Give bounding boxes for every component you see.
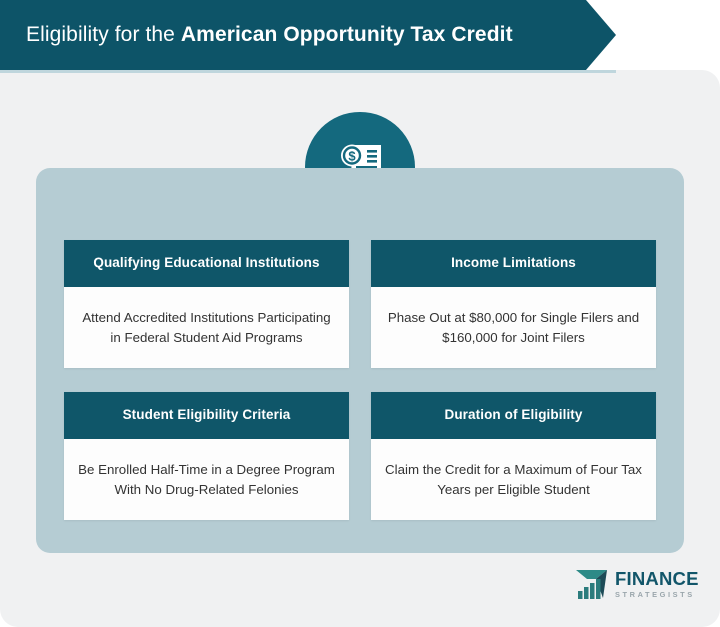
card-header: Qualifying Educational Institutions	[64, 240, 349, 287]
header-banner: Eligibility for the American Opportunity…	[0, 0, 616, 70]
logo-name: FINANCE	[615, 570, 699, 589]
brand-logo: FINANCE STRATEGISTS	[573, 563, 705, 605]
logo-tagline: STRATEGISTS	[615, 591, 699, 598]
bar-chart-arrow-logo-mark	[573, 567, 613, 601]
card-body: Attend Accredited Institutions Participa…	[64, 287, 349, 368]
card-header-label: Income Limitations	[451, 255, 576, 271]
page-title-regular: Eligibility for the	[26, 23, 181, 46]
card-header: Income Limitations	[371, 240, 656, 287]
card-body: Be Enrolled Half-Time in a Degree Progra…	[64, 439, 349, 520]
card-header-label: Student Eligibility Criteria	[123, 407, 291, 423]
card-qualifying-educational-institutions: Qualifying Educational Institutions Atte…	[64, 240, 349, 368]
banner-underline	[0, 70, 616, 73]
card-body-text: Be Enrolled Half-Time in a Degree Progra…	[76, 460, 337, 499]
card-body: Phase Out at $80,000 for Single Filers a…	[371, 287, 656, 368]
card-grid: Qualifying Educational Institutions Atte…	[64, 240, 656, 520]
card-income-limitations: Income Limitations Phase Out at $80,000 …	[371, 240, 656, 368]
card-student-eligibility-criteria: Student Eligibility Criteria Be Enrolled…	[64, 392, 349, 520]
card-body-text: Attend Accredited Institutions Participa…	[76, 308, 337, 347]
infographic-root: Eligibility for the American Opportunity…	[0, 0, 720, 627]
card-header: Student Eligibility Criteria	[64, 392, 349, 439]
card-header: Duration of Eligibility	[371, 392, 656, 439]
card-header-label: Qualifying Educational Institutions	[93, 255, 319, 271]
logo-wordmark: FINANCE STRATEGISTS	[615, 570, 699, 599]
card-body-text: Claim the Credit for a Maximum of Four T…	[383, 460, 644, 499]
svg-text:$: $	[348, 148, 356, 163]
card-header-label: Duration of Eligibility	[444, 407, 582, 423]
card-duration-of-eligibility: Duration of Eligibility Claim the Credit…	[371, 392, 656, 520]
card-body: Claim the Credit for a Maximum of Four T…	[371, 439, 656, 520]
page-title: Eligibility for the American Opportunity…	[0, 23, 513, 47]
page-title-bold: American Opportunity Tax Credit	[181, 23, 513, 46]
card-body-text: Phase Out at $80,000 for Single Filers a…	[383, 308, 644, 347]
